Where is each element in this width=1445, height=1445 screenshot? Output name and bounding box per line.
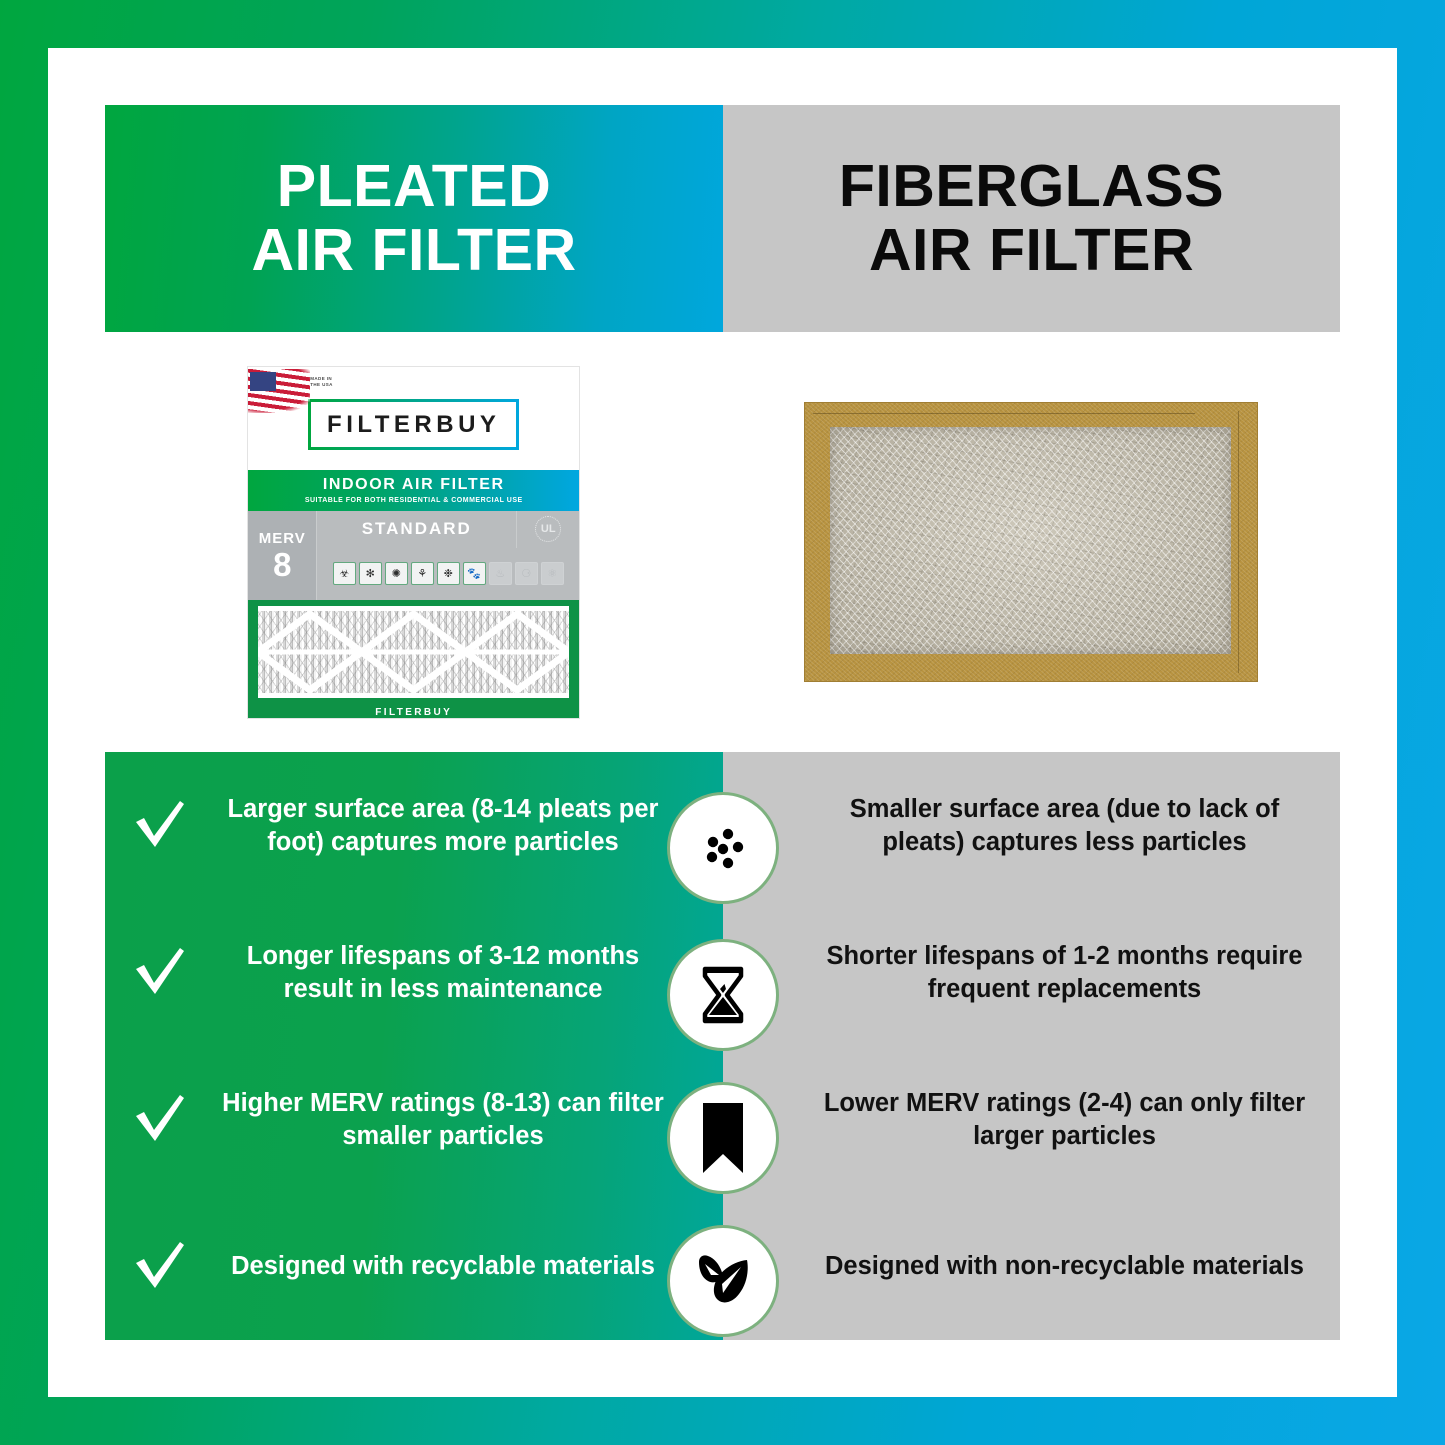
- box-footer-brand: FILTERBUY: [248, 707, 579, 718]
- diamond-support-grid: [258, 606, 569, 698]
- box-top-section: MADE IN THE USA FILTERBUY: [248, 367, 579, 470]
- pleated-image-cell: MADE IN THE USA FILTERBUY INDOOR AIR FIL…: [105, 332, 723, 752]
- comparison-column-pleated: Larger surface area (8-14 pleats per foo…: [105, 752, 723, 1340]
- product-images-row: MADE IN THE USA FILTERBUY INDOOR AIR FIL…: [105, 332, 1340, 752]
- pet-dander-icon: 🐾: [463, 562, 486, 585]
- bookmark-icon: [667, 1082, 779, 1194]
- smoke-icon: ♨: [489, 562, 512, 585]
- box-grade-label: STANDARD: [317, 511, 517, 548]
- bacteria-icon: ⚆: [515, 562, 538, 585]
- dust-icon: ☣: [333, 562, 356, 585]
- header-fiberglass-line1: FIBERGLASS: [839, 155, 1224, 219]
- merv-label: MERV: [259, 530, 306, 547]
- comparison-row: Higher MERV ratings (8-13) can filter sm…: [105, 1046, 723, 1193]
- fiberglass-drawback-text: Designed with non-recyclable materials: [723, 1250, 1340, 1283]
- usa-flag-icon: [248, 369, 310, 413]
- fiberglass-drawback-text: Smaller surface area (due to lack of ple…: [723, 793, 1340, 858]
- header-band: PLEATED AIR FILTER FIBERGLASS AIR FILTER: [105, 105, 1340, 332]
- fiberglass-drawback-text: Shorter lifespans of 1-2 months require …: [723, 940, 1340, 1005]
- comparison-column-fiberglass: Smaller surface area (due to lack of ple…: [723, 752, 1340, 1340]
- pleated-benefit-text: Designed with recyclable materials: [213, 1250, 723, 1283]
- pleated-benefit-text: Longer lifespans of 3-12 months result i…: [213, 940, 723, 1005]
- header-pleated: PLEATED AIR FILTER: [105, 105, 723, 332]
- header-pleated-line2: AIR FILTER: [251, 219, 576, 283]
- comparison-row: Larger surface area (8-14 pleats per foo…: [105, 752, 723, 899]
- hourglass-icon: [667, 939, 779, 1051]
- checkmark-icon: [105, 1093, 213, 1147]
- pleated-filter-box-image: MADE IN THE USA FILTERBUY INDOOR AIR FIL…: [247, 366, 580, 719]
- fiberglass-filter-image: [805, 403, 1257, 681]
- box-band-subtitle: SUITABLE FOR BOTH RESIDENTIAL & COMMERCI…: [305, 497, 523, 504]
- header-fiberglass-line2: AIR FILTER: [839, 219, 1224, 283]
- box-capability-icon-row: ☣ ✻ ✺ ⚘ ❉ 🐾 ♨ ⚆ ⚛: [317, 548, 579, 600]
- ul-certification-mark: UL: [517, 511, 579, 548]
- checkmark-icon: [105, 946, 213, 1000]
- poster-content: PLEATED AIR FILTER FIBERGLASS AIR FILTER: [105, 105, 1340, 1340]
- made-in-line1: MADE IN: [310, 376, 333, 383]
- box-product-band: INDOOR AIR FILTER SUITABLE FOR BOTH RESI…: [248, 470, 579, 511]
- ul-mark-text: UL: [535, 516, 561, 542]
- box-spec-right: STANDARD UL ☣ ✻ ✺ ⚘ ❉: [317, 511, 579, 600]
- checkmark-icon: [105, 799, 213, 853]
- comparison-row: Lower MERV ratings (2-4) can only filter…: [723, 1046, 1340, 1193]
- leaf-icon: [667, 1225, 779, 1337]
- pleated-benefit-text: Larger surface area (8-14 pleats per foo…: [213, 793, 723, 858]
- header-pleated-line1: PLEATED: [251, 155, 576, 219]
- box-filter-media-art: FILTERBUY: [248, 600, 579, 719]
- particles-icon: [667, 792, 779, 904]
- fiberglass-image-cell: [723, 332, 1341, 752]
- merv-value: 8: [273, 548, 291, 581]
- comparison-row: Designed with non-recyclable materials: [723, 1193, 1340, 1340]
- dust-mite-icon: ❉: [437, 562, 460, 585]
- merv-badge: MERV 8: [248, 511, 317, 600]
- made-in-line2: THE USA: [310, 382, 333, 389]
- lint-icon: ✻: [359, 562, 382, 585]
- checkmark-icon: [105, 1240, 213, 1294]
- poster-root: PLEATED AIR FILTER FIBERGLASS AIR FILTER: [0, 0, 1445, 1445]
- made-in-usa-label: MADE IN THE USA: [310, 376, 333, 390]
- box-band-title: INDOOR AIR FILTER: [323, 476, 505, 494]
- header-pleated-title: PLEATED AIR FILTER: [251, 155, 576, 282]
- frame-seam-top: [813, 413, 1195, 414]
- fiberglass-rows: Smaller surface area (due to lack of ple…: [723, 752, 1340, 1340]
- frame-seam-right: [1238, 411, 1239, 673]
- comparison-row: Longer lifespans of 3-12 months result i…: [105, 899, 723, 1046]
- fiberglass-drawback-text: Lower MERV ratings (2-4) can only filter…: [723, 1087, 1340, 1152]
- fiberglass-mesh-media: [830, 427, 1231, 654]
- header-fiberglass-title: FIBERGLASS AIR FILTER: [839, 155, 1224, 282]
- header-fiberglass: FIBERGLASS AIR FILTER: [723, 105, 1340, 332]
- mold-icon: ⚘: [411, 562, 434, 585]
- pollen-icon: ✺: [385, 562, 408, 585]
- box-spec-section: MERV 8 STANDARD UL ☣: [248, 511, 579, 600]
- brand-logo-frame: FILTERBUY: [308, 399, 519, 450]
- box-grade-row: STANDARD UL: [317, 511, 579, 548]
- comparison-row: Designed with recyclable materials: [105, 1193, 723, 1340]
- virus-icon: ⚛: [541, 562, 564, 585]
- pleated-benefit-text: Higher MERV ratings (8-13) can filter sm…: [213, 1087, 723, 1152]
- brand-logo-text: FILTERBUY: [327, 411, 500, 439]
- comparison-row: Smaller surface area (due to lack of ple…: [723, 752, 1340, 899]
- pleated-rows: Larger surface area (8-14 pleats per foo…: [105, 752, 723, 1340]
- comparison-row: Shorter lifespans of 1-2 months require …: [723, 899, 1340, 1046]
